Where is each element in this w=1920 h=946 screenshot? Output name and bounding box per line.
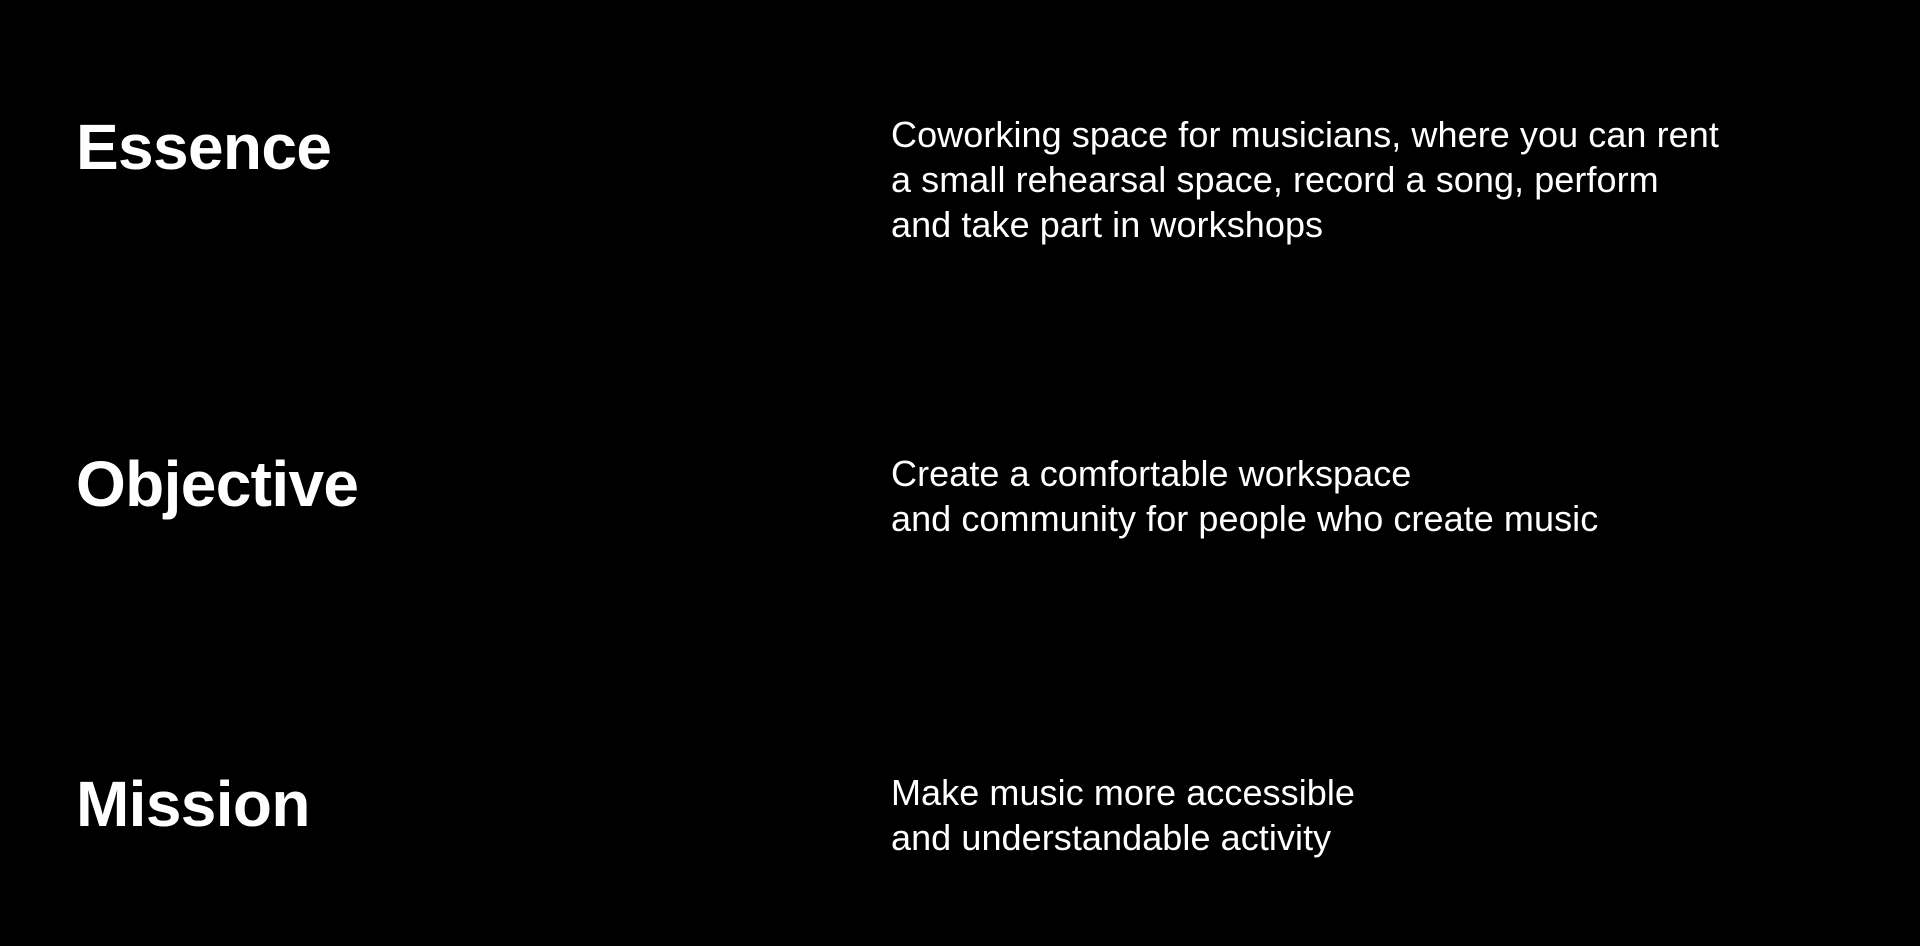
row-body-essence: Coworking space for musicians, where you… (891, 112, 1719, 247)
body-line: and community for people who create musi… (891, 496, 1598, 541)
body-line: Make music more accessible (891, 770, 1355, 815)
content-rows: Essence Coworking space for musicians, w… (0, 0, 1920, 946)
slide-root: Essence Coworking space for musicians, w… (0, 0, 1920, 946)
row-body-objective: Create a comfortable workspace and commu… (891, 451, 1598, 541)
body-line: and take part in workshops (891, 202, 1719, 247)
body-line: Coworking space for musicians, where you… (891, 112, 1719, 157)
body-line: and understandable activity (891, 815, 1355, 860)
row-heading-essence: Essence (76, 108, 331, 186)
row-heading-mission: Mission (76, 765, 310, 843)
row-heading-objective: Objective (76, 445, 358, 523)
body-line: Create a comfortable workspace (891, 451, 1598, 496)
body-line: a small rehearsal space, record a song, … (891, 157, 1719, 202)
row-body-mission: Make music more accessible and understan… (891, 770, 1355, 860)
